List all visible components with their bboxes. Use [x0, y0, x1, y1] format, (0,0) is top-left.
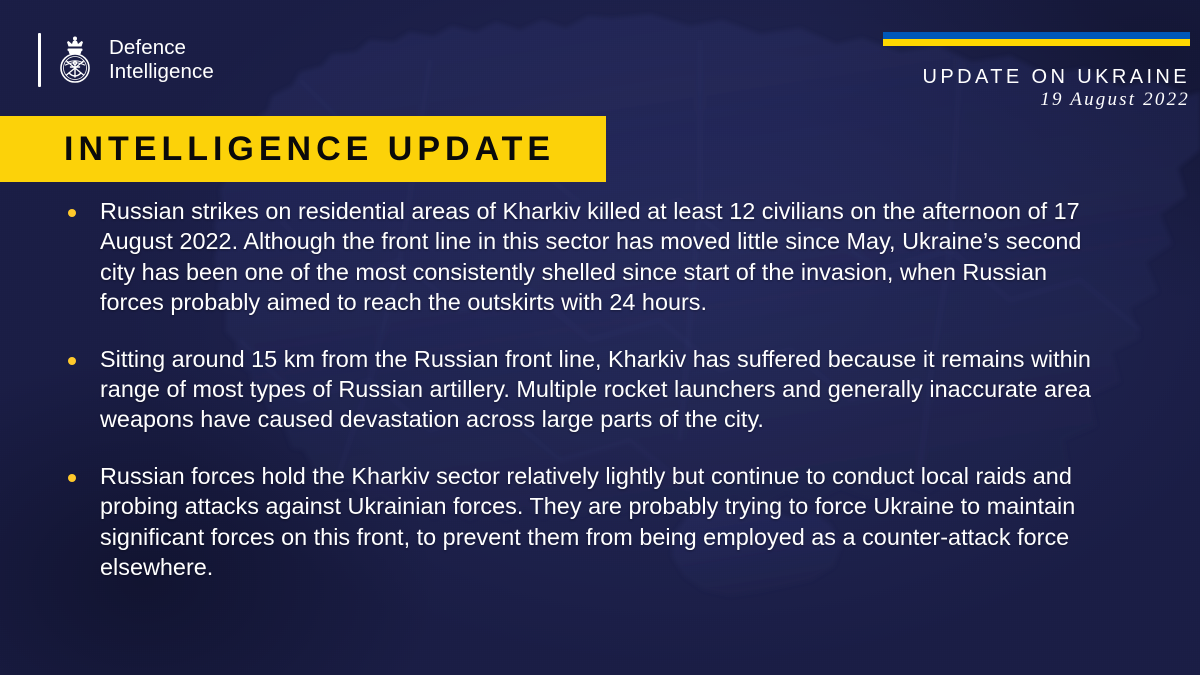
bullet-dot-icon — [68, 474, 76, 482]
ukraine-flag-bar — [883, 32, 1190, 46]
update-date: 19 August 2022 — [770, 88, 1190, 112]
brand-divider-rule — [38, 33, 41, 87]
list-item: Sitting around 15 km from the Russian fr… — [0, 344, 1200, 435]
brand-lockup: Defence Intelligence — [38, 33, 214, 87]
flag-stripe-yellow — [883, 39, 1190, 46]
brand-name-line2: Intelligence — [109, 60, 214, 83]
bullet-dot-icon — [68, 209, 76, 217]
bullet-text: Russian strikes on residential areas of … — [100, 196, 1092, 318]
intelligence-update-graphic: Defence Intelligence UPDATE ON UKRAINE 1… — [0, 0, 1200, 675]
bullet-dot-icon — [68, 357, 76, 365]
brand-name: Defence Intelligence — [109, 36, 214, 84]
bullet-text: Russian forces hold the Kharkiv sector r… — [100, 461, 1092, 583]
header-right-group: UPDATE ON UKRAINE 19 August 2022 — [770, 32, 1190, 112]
list-item: Russian strikes on residential areas of … — [0, 196, 1200, 318]
defence-intelligence-crest-icon — [54, 35, 96, 85]
intelligence-update-banner: INTELLIGENCE UPDATE — [0, 116, 606, 182]
update-title: UPDATE ON UKRAINE — [770, 66, 1190, 88]
bullet-list: Russian strikes on residential areas of … — [0, 196, 1200, 608]
list-item: Russian forces hold the Kharkiv sector r… — [0, 461, 1200, 583]
brand-name-line1: Defence — [109, 36, 186, 59]
flag-stripe-blue — [883, 32, 1190, 39]
banner-title: INTELLIGENCE UPDATE — [0, 130, 555, 169]
header: Defence Intelligence UPDATE ON UKRAINE 1… — [0, 0, 1200, 116]
bullet-text: Sitting around 15 km from the Russian fr… — [100, 344, 1092, 435]
